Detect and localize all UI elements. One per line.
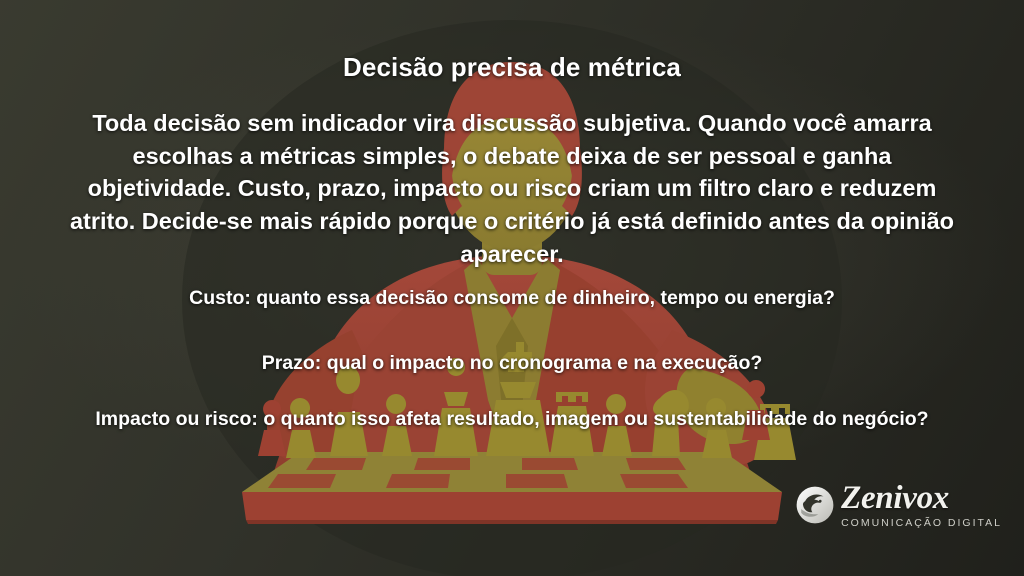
lead-paragraph: Toda decisão sem indicador vira discussã… <box>58 107 966 270</box>
bullet-point-impacto-risco: Impacto ou risco: o quanto isso afeta re… <box>60 406 964 434</box>
bullet-point-prazo: Prazo: qual o impacto no cronograma e na… <box>60 350 964 378</box>
logo-tagline: COMUNICAÇÃO DIGITAL <box>841 518 1002 529</box>
wolf-head-circle-icon <box>794 484 836 526</box>
page-title: Decisão precisa de métrica <box>46 52 978 83</box>
logo-wordmark: Zenivox <box>841 482 949 515</box>
bullet-point-custo: Custo: quanto essa decisão consome de di… <box>60 285 964 313</box>
slide-canvas: Decisão precisa de métrica Toda decisão … <box>0 0 1024 576</box>
logo-text-block: Zenivox COMUNICAÇÃO DIGITAL <box>841 482 1002 529</box>
brand-logo: Zenivox COMUNICAÇÃO DIGITAL <box>794 482 1002 529</box>
